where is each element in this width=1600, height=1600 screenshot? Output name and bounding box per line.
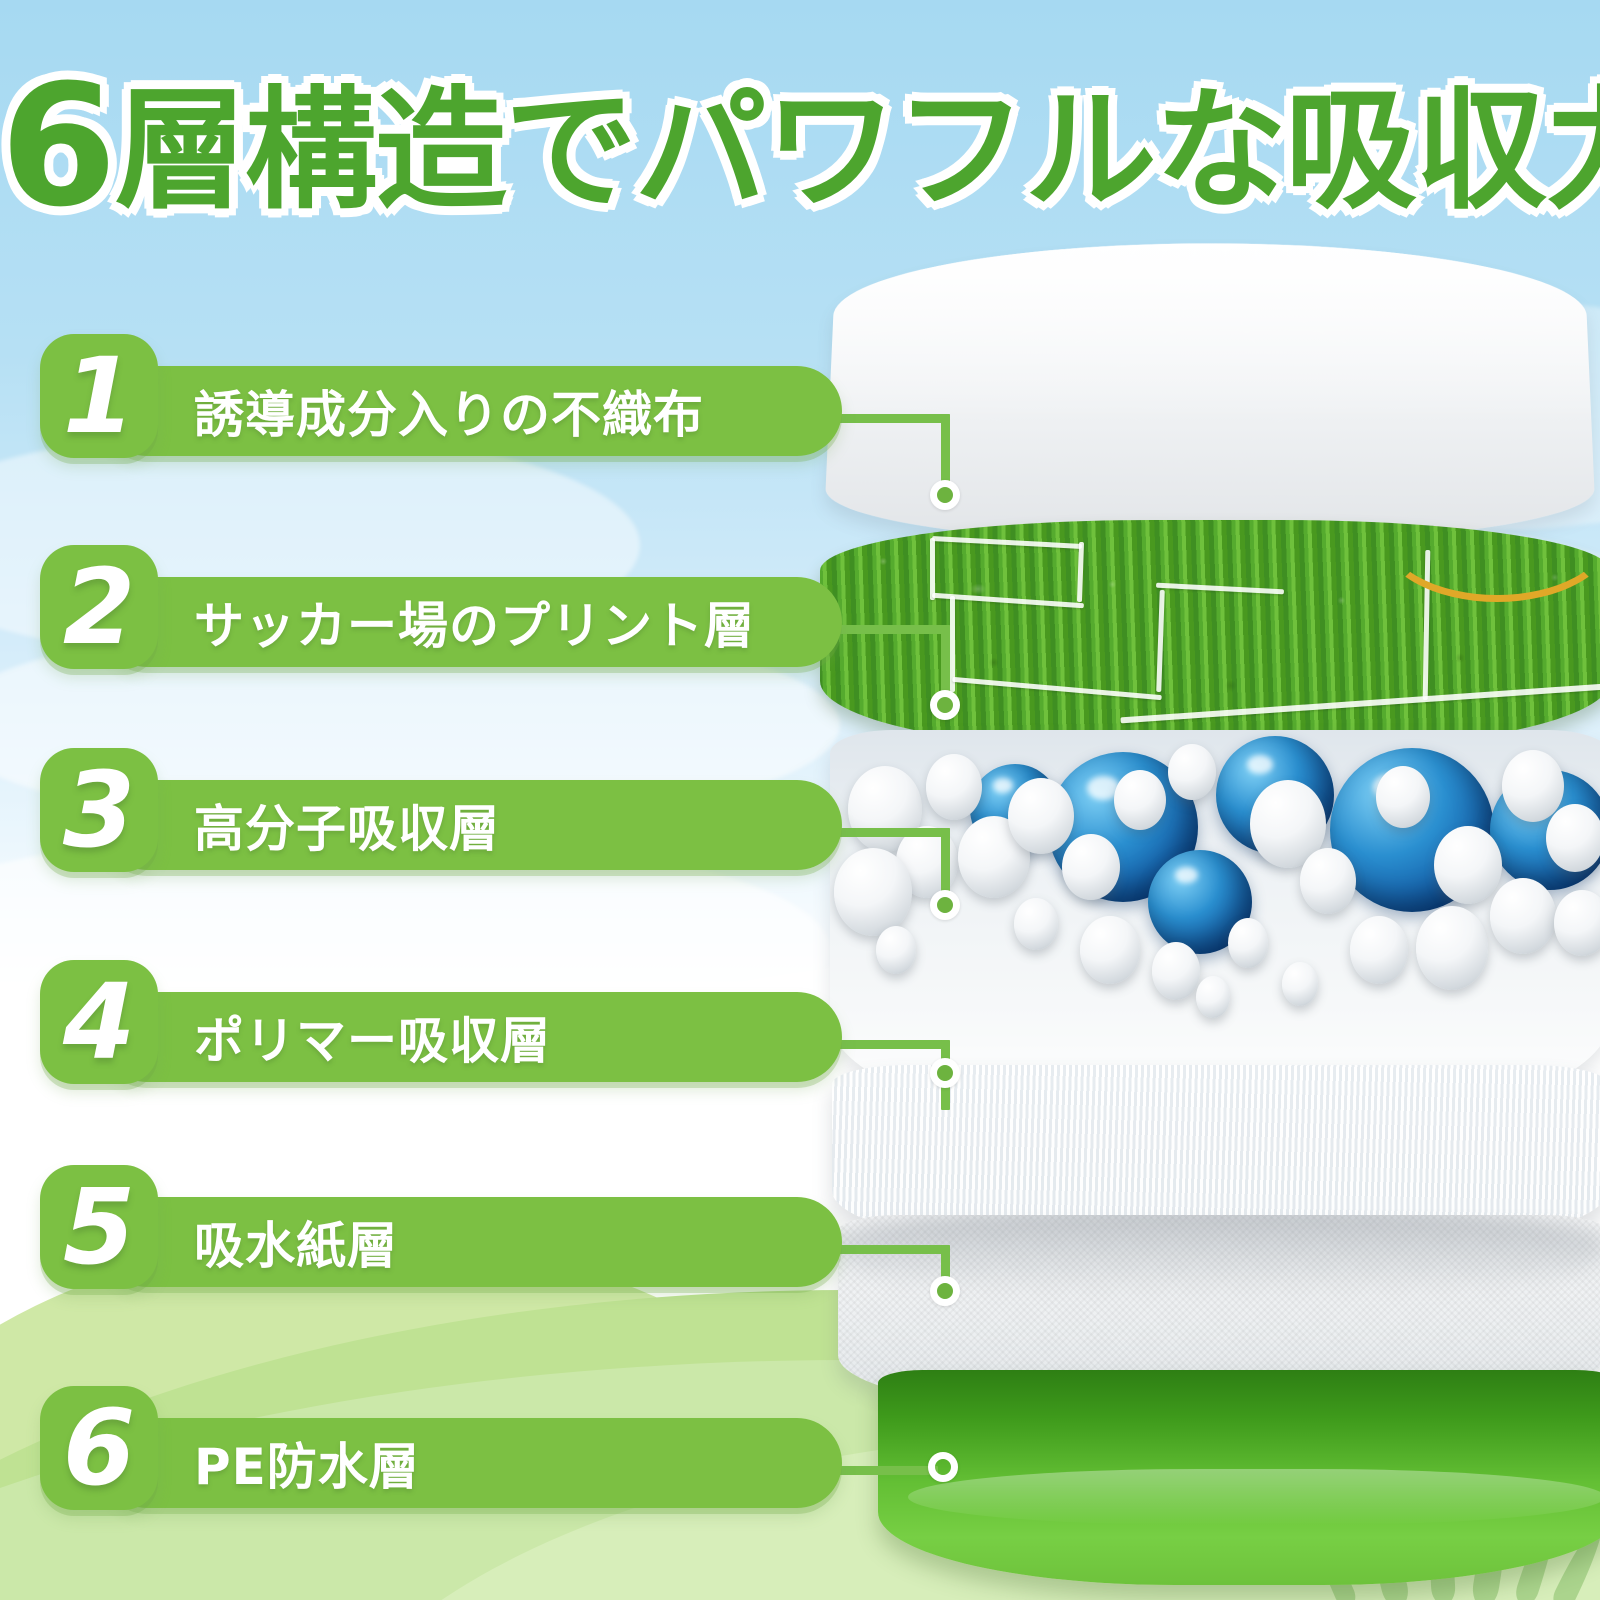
polymer-pearl (1152, 942, 1200, 1000)
layer-label-1: 誘導成分入りの不織布 (194, 375, 704, 447)
layer-graphic-pe-waterproof (878, 1370, 1600, 1585)
polymer-pearl (1502, 750, 1564, 822)
infographic-canvas: 6層構造でパワフルな吸収力 (0, 0, 1600, 1600)
layer-number-6: 6 (40, 1386, 158, 1510)
polymer-pearl (1008, 778, 1074, 854)
polymer-pearl (1350, 916, 1408, 984)
layer-pill-2[interactable]: サッカー場のプリント層 (102, 577, 842, 667)
connector-dot-3 (930, 890, 960, 920)
title-rest-text: 層構造でパワフルな吸収力 (115, 74, 1600, 228)
connector-dot-4 (930, 1058, 960, 1088)
layer-label-4: ポリマー吸収層 (194, 1001, 551, 1073)
gloss-highlight (908, 1469, 1600, 1525)
polymer-pearl (1080, 916, 1140, 984)
layer-label-5: 吸水紙層 (194, 1206, 398, 1278)
polymer-pearl (1114, 770, 1166, 830)
polymer-pearl (926, 754, 982, 820)
layer-label-2: サッカー場のプリント層 (194, 586, 755, 658)
polymer-pearl (1168, 744, 1216, 800)
polymer-pearl (1014, 898, 1058, 950)
layer-number-5: 5 (40, 1165, 158, 1289)
layer-number-badge-2: 2 (40, 545, 158, 669)
gloss-highlight (829, 243, 1592, 420)
layer-pill-3[interactable]: 高分子吸収層 (102, 780, 842, 870)
connector-dot-2 (930, 690, 960, 720)
connector-dot-5 (930, 1276, 960, 1306)
layer-number-4: 4 (40, 960, 158, 1084)
polymer-pearl (1282, 962, 1318, 1006)
layer-number-badge-6: 6 (40, 1386, 158, 1510)
layer-pill-5[interactable]: 吸水紙層 (102, 1197, 842, 1287)
polymer-pearl (1062, 834, 1120, 900)
field-line (930, 538, 935, 600)
polymer-pearl (1228, 918, 1268, 968)
layer-pill-6[interactable]: PE防水層 (102, 1418, 842, 1508)
layer-number-badge-3: 3 (40, 748, 158, 872)
polymer-pearl (876, 926, 916, 974)
polymer-pearl (1490, 878, 1556, 954)
polymer-pearl (834, 848, 912, 936)
layer-label-6: PE防水層 (194, 1427, 420, 1499)
layer-label-3: 高分子吸収層 (194, 789, 500, 861)
polymer-pearl (1376, 766, 1430, 828)
page-title: 6層構造でパワフルな吸収力 (0, 52, 1600, 240)
polymer-pearl (1546, 804, 1600, 872)
polymer-pearl (1196, 976, 1230, 1018)
polymer-pearl (1434, 826, 1502, 904)
polymer-pearl (1554, 890, 1600, 956)
polymer-pearl (1416, 906, 1488, 990)
layer-pill-4[interactable]: ポリマー吸収層 (102, 992, 842, 1082)
layer-pill-1[interactable]: 誘導成分入りの不織布 (102, 366, 842, 456)
layer-number-badge-1: 1 (40, 334, 158, 458)
layer-number-badge-4: 4 (40, 960, 158, 1084)
polymer-pearl (1300, 848, 1356, 914)
layer-number-badge-5: 5 (40, 1165, 158, 1289)
layer-number-1: 1 (40, 334, 158, 458)
layer-number-2: 2 (40, 545, 158, 669)
connector-dot-1 (930, 480, 960, 510)
layer-number-3: 3 (40, 748, 158, 872)
connector-dot-6 (928, 1452, 958, 1482)
title-lead-number: 6 (0, 48, 115, 244)
